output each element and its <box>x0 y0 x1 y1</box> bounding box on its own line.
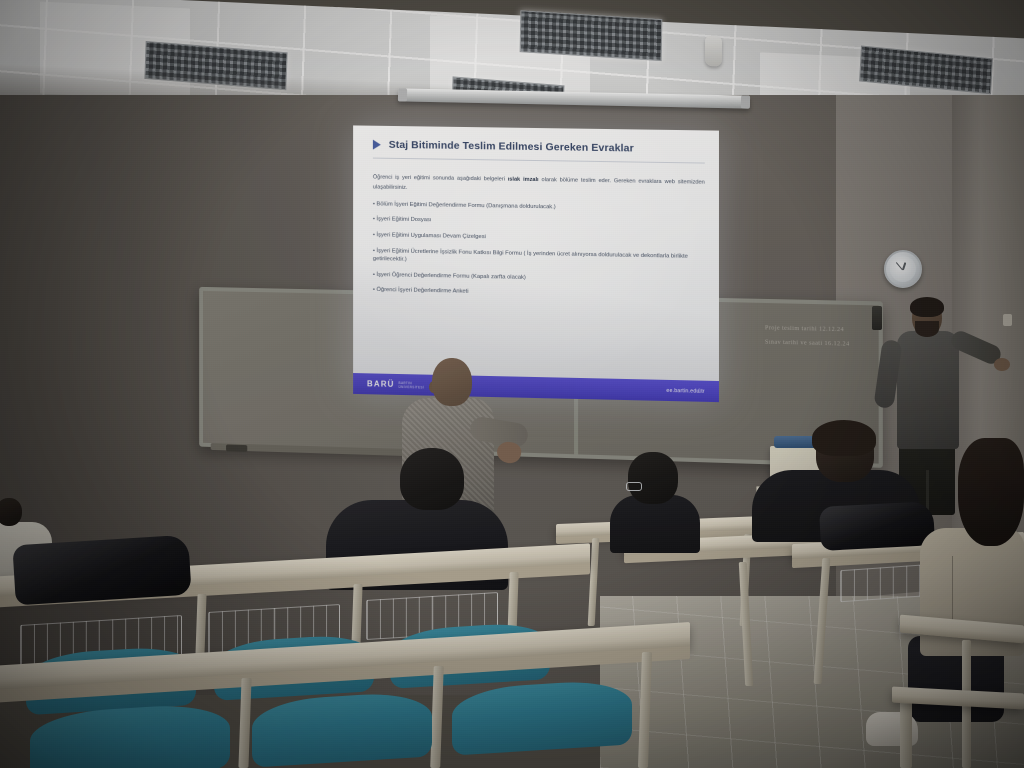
whiteboard-marker <box>226 444 247 452</box>
desk-leg <box>238 678 251 768</box>
standing-man-hair <box>910 297 944 317</box>
seat-teal <box>252 690 432 767</box>
smoke-detector-icon <box>705 36 722 67</box>
bag-on-right-desk <box>819 501 935 551</box>
standing-man-torso <box>897 331 959 449</box>
presenter-head <box>432 358 472 406</box>
whiteboard-note-line-1: Proje teslim tarihi 12.12.24 <box>765 325 844 333</box>
desk-leg <box>430 666 444 768</box>
student-head <box>628 452 678 504</box>
standing-man-hand <box>994 358 1010 371</box>
clock-hour-hand <box>903 262 907 270</box>
wall-clock-icon <box>884 250 922 288</box>
bag-highlight <box>819 501 935 551</box>
student-hair <box>812 420 876 456</box>
wall-switch[interactable] <box>872 306 882 330</box>
person-head <box>0 498 22 526</box>
glasses-icon <box>626 482 642 491</box>
rail-end <box>398 88 407 101</box>
whiteboard-note-line-2: Sınav tarihi ve saati 16.12.24 <box>765 339 850 347</box>
student-head <box>400 448 464 510</box>
bag-highlight <box>12 535 191 606</box>
student-hair <box>958 438 1024 546</box>
ceiling-light-fixture <box>520 10 663 61</box>
chair-frame <box>900 700 912 768</box>
projection-screen: Staj Bitiminde Teslim Edilmesi Gereken E… <box>353 125 719 402</box>
backpack-on-desk <box>12 535 191 606</box>
standing-man-beard <box>915 321 939 337</box>
classroom-photo: Proje teslim tarihi 12.12.24 Sınav tarih… <box>0 0 1024 768</box>
wall-switch-secondary[interactable] <box>1003 314 1012 326</box>
clock-face <box>890 256 916 282</box>
rail-end <box>741 95 750 108</box>
screen-shading <box>353 125 719 402</box>
